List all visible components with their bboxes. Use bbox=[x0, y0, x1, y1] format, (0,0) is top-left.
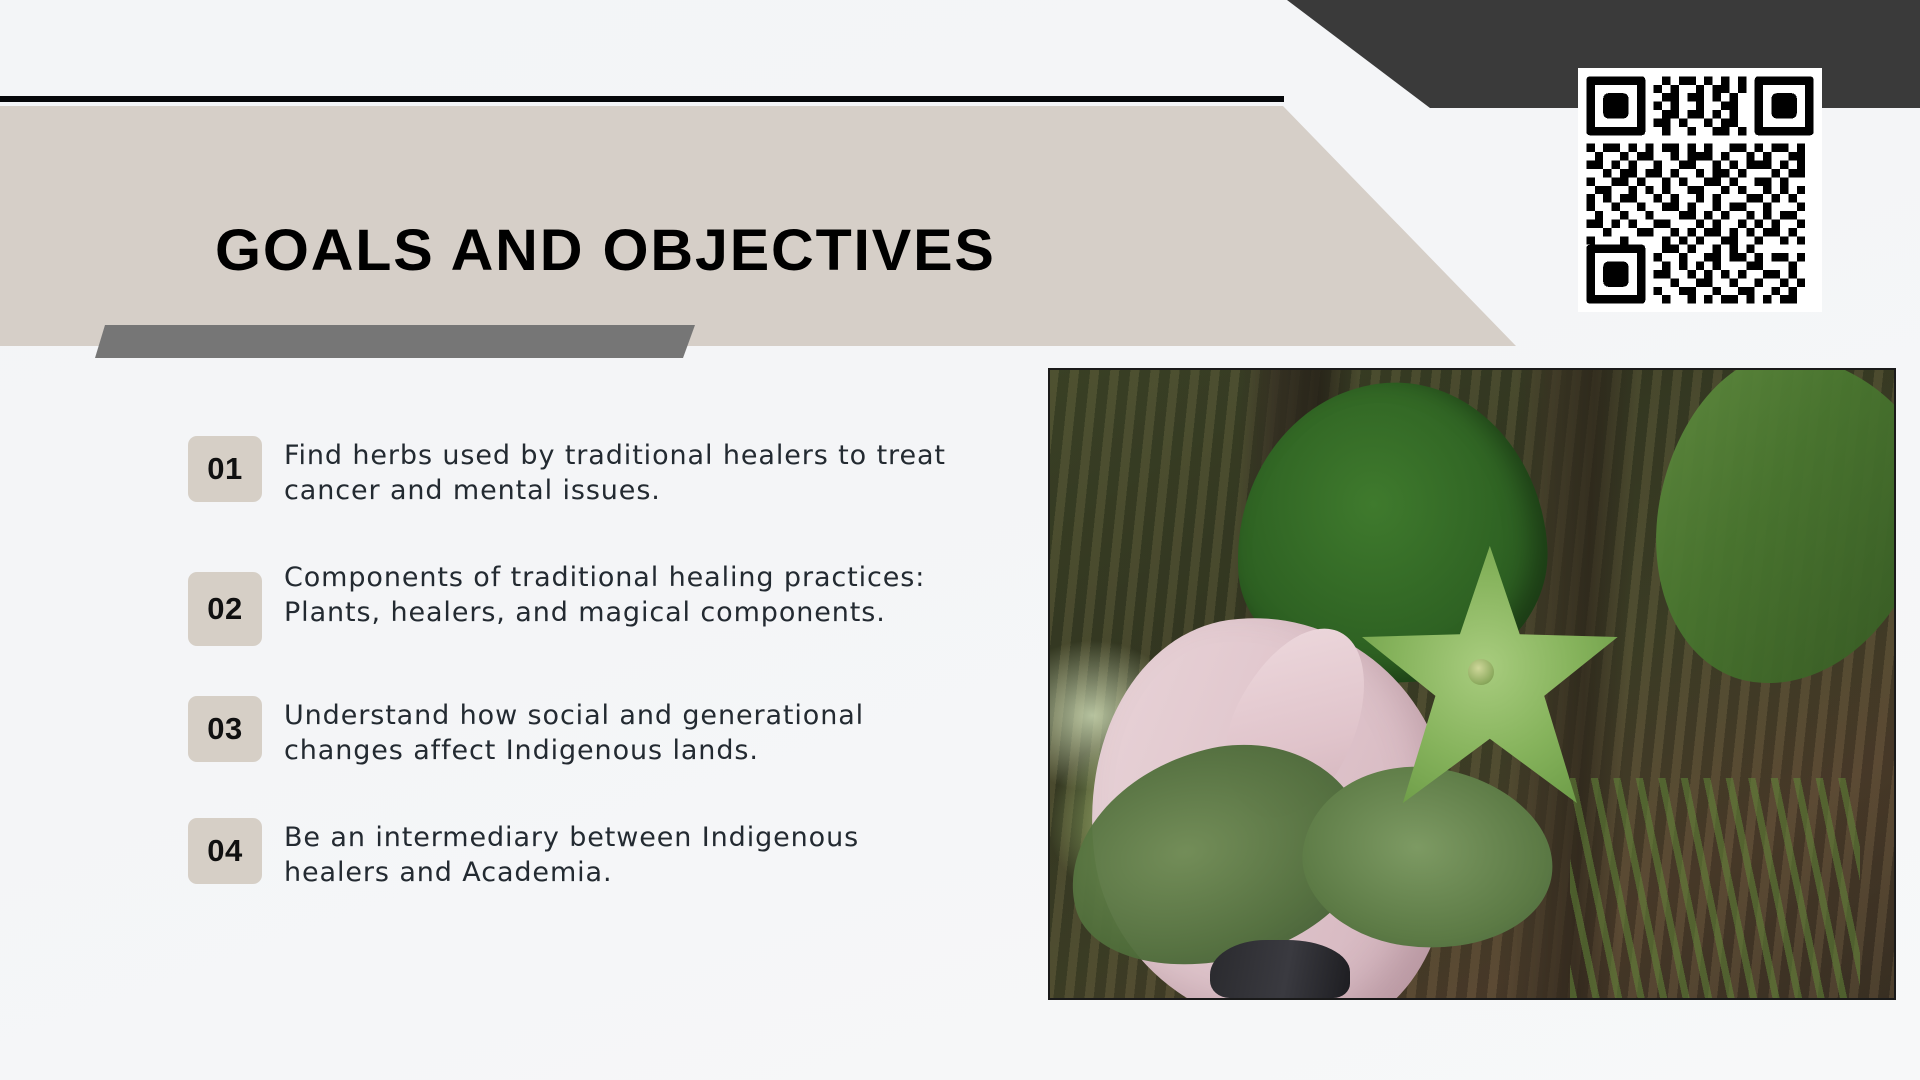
list-item: 03 Understand how social and generationa… bbox=[188, 692, 948, 768]
objective-text: Components of traditional healing practi… bbox=[284, 554, 948, 630]
grass-texture bbox=[1570, 778, 1860, 998]
objective-number-badge: 04 bbox=[188, 818, 262, 884]
objective-text: Be an intermediary between Indigenous he… bbox=[284, 814, 948, 890]
dark-foreground-object bbox=[1210, 940, 1350, 998]
objective-number-badge: 03 bbox=[188, 696, 262, 762]
title-divider-rule bbox=[0, 96, 1284, 102]
objective-number-badge: 02 bbox=[188, 572, 262, 646]
photo-background bbox=[1050, 370, 1894, 998]
qr-code[interactable] bbox=[1578, 68, 1822, 312]
objective-text: Understand how social and generational c… bbox=[284, 692, 948, 768]
list-item: 02 Components of traditional healing pra… bbox=[188, 554, 948, 646]
objective-number-badge: 01 bbox=[188, 436, 262, 502]
page-title: GOALS AND OBJECTIVES bbox=[215, 217, 996, 284]
leaf-shape bbox=[1626, 368, 1896, 712]
grey-accent-bar bbox=[95, 325, 695, 358]
list-item: 04 Be an intermediary between Indigenous… bbox=[188, 814, 948, 890]
list-item: 01 Find herbs used by traditional healer… bbox=[188, 432, 948, 508]
qr-code-image bbox=[1578, 68, 1822, 312]
objective-text: Find herbs used by traditional healers t… bbox=[284, 432, 948, 508]
objectives-list: 01 Find herbs used by traditional healer… bbox=[188, 432, 948, 891]
slide-photo bbox=[1048, 368, 1896, 1000]
slide-canvas: GOALS AND OBJECTIVES bbox=[0, 0, 1920, 1080]
star-fruit-center bbox=[1468, 659, 1494, 685]
